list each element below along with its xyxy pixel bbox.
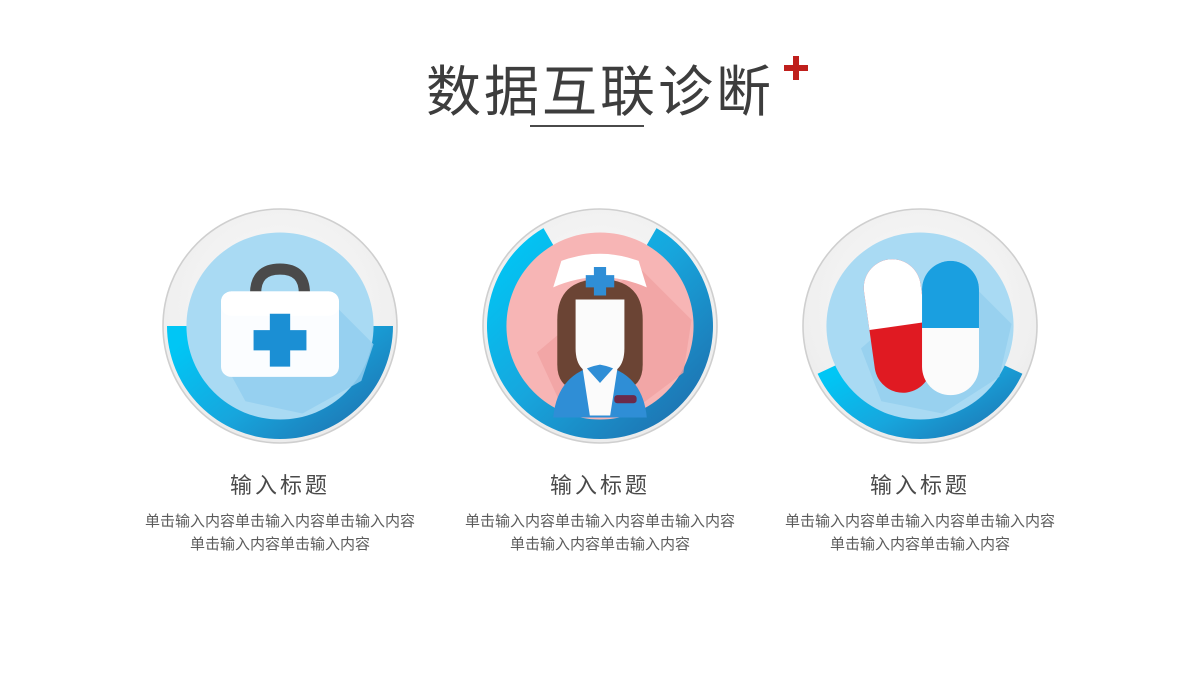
caption-title: 输入标题 bbox=[775, 468, 1065, 500]
caption-title: 输入标题 bbox=[135, 468, 425, 500]
page-title-text: 数据互联诊断 bbox=[426, 60, 774, 124]
donut-chart-medical-kit[interactable] bbox=[160, 206, 400, 446]
feature-column-medical-kit[interactable]: 输入标题 单击输入内容单击输入内容单击输入内容单击输入内容单击输入内容 bbox=[120, 206, 440, 557]
title-inner: 数据互联诊断 bbox=[426, 62, 774, 123]
title-underline bbox=[530, 125, 644, 127]
feature-column-pills[interactable]: 输入标题 单击输入内容单击输入内容单击输入内容单击输入内容单击输入内容 bbox=[760, 206, 1080, 557]
caption-body: 单击输入内容单击输入内容单击输入内容单击输入内容单击输入内容 bbox=[455, 510, 745, 557]
donut-chart-pills[interactable] bbox=[800, 206, 1040, 446]
caption-nurse: 输入标题 单击输入内容单击输入内容单击输入内容单击输入内容单击输入内容 bbox=[455, 468, 745, 557]
page-title: 数据互联诊断 bbox=[0, 62, 1200, 123]
caption-medical-kit: 输入标题 单击输入内容单击输入内容单击输入内容单击输入内容单击输入内容 bbox=[135, 468, 425, 557]
donut-chart-nurse[interactable] bbox=[480, 206, 720, 446]
caption-pills: 输入标题 单击输入内容单击输入内容单击输入内容单击输入内容单击输入内容 bbox=[775, 468, 1065, 557]
caption-body: 单击输入内容单击输入内容单击输入内容单击输入内容单击输入内容 bbox=[135, 510, 425, 557]
caption-body: 单击输入内容单击输入内容单击输入内容单击输入内容单击输入内容 bbox=[775, 510, 1065, 557]
plus-mark-icon bbox=[784, 56, 808, 80]
feature-column-nurse[interactable]: 输入标题 单击输入内容单击输入内容单击输入内容单击输入内容单击输入内容 bbox=[440, 206, 760, 557]
feature-columns: 输入标题 单击输入内容单击输入内容单击输入内容单击输入内容单击输入内容 bbox=[0, 206, 1200, 557]
caption-title: 输入标题 bbox=[455, 468, 745, 500]
